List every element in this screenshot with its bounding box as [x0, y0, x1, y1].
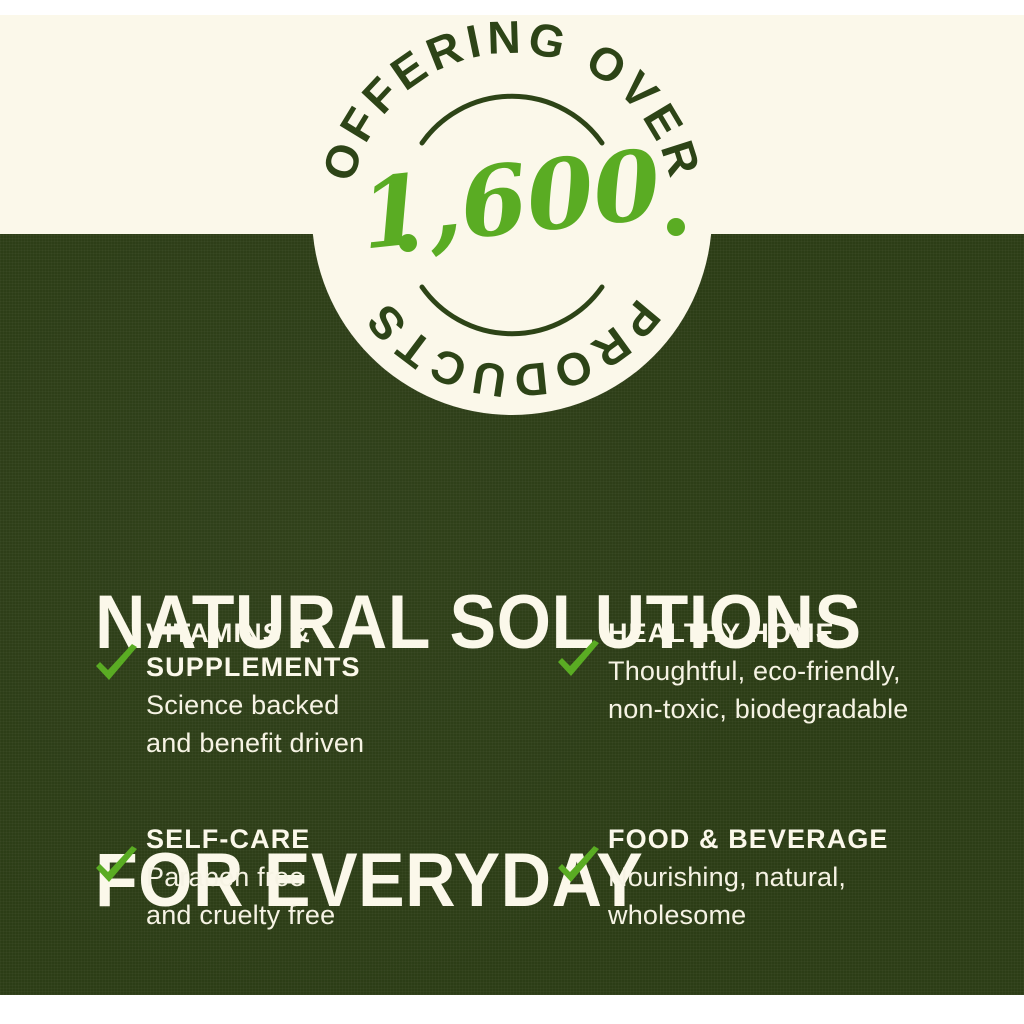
check-icon	[554, 638, 602, 686]
feature-item-healthy-home: HEALTHY HOME Thoughtful, eco-friendly, n…	[544, 614, 992, 820]
feature-text: VITAMINS & SUPPLEMENTS Science backed an…	[146, 614, 364, 762]
feature-list: VITAMINS & SUPPLEMENTS Science backed an…	[92, 614, 992, 934]
feature-item-self-care: SELF-CARE Paraben free and cruelty free	[92, 820, 544, 934]
feature-description: Thoughtful, eco-friendly, non-toxic, bio…	[608, 652, 909, 728]
feature-description: Nourishing, natural, wholesome	[608, 858, 889, 934]
feature-item-food-beverage: FOOD & BEVERAGE Nourishing, natural, who…	[544, 820, 992, 934]
feature-text: SELF-CARE Paraben free and cruelty free	[146, 820, 335, 934]
feature-item-vitamins-supplements: VITAMINS & SUPPLEMENTS Science backed an…	[92, 614, 544, 820]
feature-title: VITAMINS & SUPPLEMENTS	[146, 616, 364, 684]
feature-description: Paraben free and cruelty free	[146, 858, 335, 934]
promo-graphic: OFFERING OVER PRODUCTS 1,600 NATURAL SOL…	[0, 0, 1024, 1024]
feature-description: Science backed and benefit driven	[146, 686, 364, 762]
check-icon	[554, 844, 602, 892]
check-icon	[92, 642, 140, 690]
offering-over-products-badge: OFFERING OVER PRODUCTS 1,600	[312, 15, 712, 415]
feature-text: FOOD & BEVERAGE Nourishing, natural, who…	[608, 820, 889, 934]
feature-title: HEALTHY HOME	[608, 616, 909, 650]
feature-title: SELF-CARE	[146, 822, 335, 856]
feature-title: FOOD & BEVERAGE	[608, 822, 889, 856]
badge-dot-right	[667, 218, 685, 236]
check-icon	[92, 844, 140, 892]
feature-text: HEALTHY HOME Thoughtful, eco-friendly, n…	[608, 614, 909, 728]
top-white-strip	[0, 0, 1024, 15]
